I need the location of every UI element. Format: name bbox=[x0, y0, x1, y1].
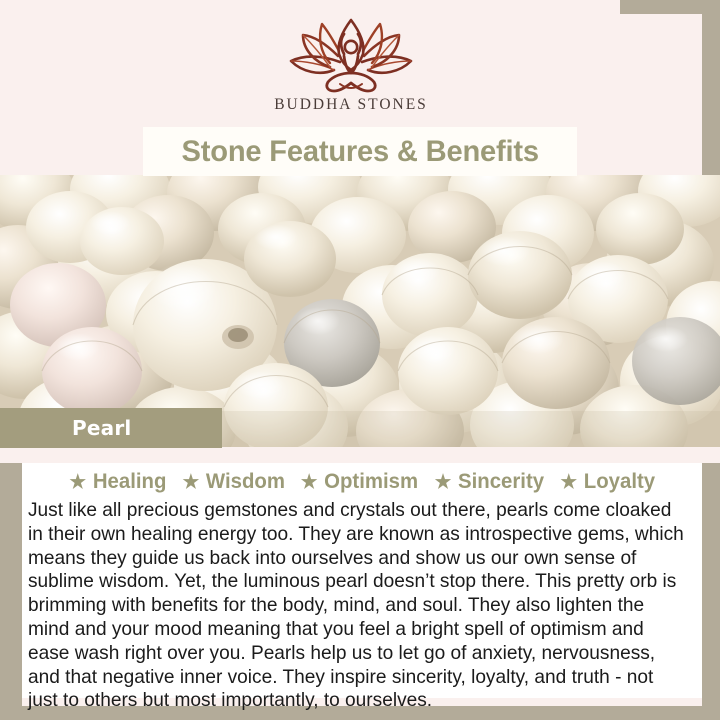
benefit-item: ★ Wisdom bbox=[182, 470, 284, 494]
benefit-item: ★ Healing bbox=[69, 470, 166, 494]
benefit-item: ★ Sincerity bbox=[435, 470, 544, 494]
star-icon: ★ bbox=[560, 473, 577, 492]
title-banner: Stone Features & Benefits bbox=[143, 127, 577, 176]
benefit-label: Optimism bbox=[324, 470, 418, 494]
lotus-meditation-icon bbox=[278, 18, 424, 94]
benefits-list: ★ Healing ★ Wisdom ★ Optimism ★ Sincerit… bbox=[22, 466, 702, 498]
header-background-top bbox=[0, 0, 620, 16]
benefit-label: Loyalty bbox=[584, 470, 655, 494]
benefit-item: ★ Loyalty bbox=[560, 470, 655, 494]
stone-description: Just like all precious gemstones and cry… bbox=[28, 499, 686, 713]
benefit-label: Wisdom bbox=[205, 470, 284, 494]
stone-name: Pearl bbox=[72, 416, 131, 440]
star-icon: ★ bbox=[301, 473, 318, 492]
stone-name-badge: Pearl bbox=[0, 408, 222, 448]
star-icon: ★ bbox=[69, 473, 86, 492]
brand-name: BUDDHA STONES bbox=[274, 96, 428, 114]
star-icon: ★ bbox=[435, 473, 452, 492]
benefit-label: Sincerity bbox=[458, 470, 544, 494]
page-title: Stone Features & Benefits bbox=[181, 135, 538, 169]
benefit-label: Healing bbox=[92, 470, 166, 494]
benefit-item: ★ Optimism bbox=[301, 470, 418, 494]
frame-left bbox=[0, 440, 22, 720]
star-icon: ★ bbox=[182, 473, 199, 492]
divider-strip bbox=[0, 447, 720, 463]
stone-features-card: BUDDHA STONES Stone Features & Benefits bbox=[0, 0, 720, 720]
stone-photo bbox=[0, 175, 720, 447]
brand-logo: BUDDHA STONES bbox=[0, 18, 702, 126]
